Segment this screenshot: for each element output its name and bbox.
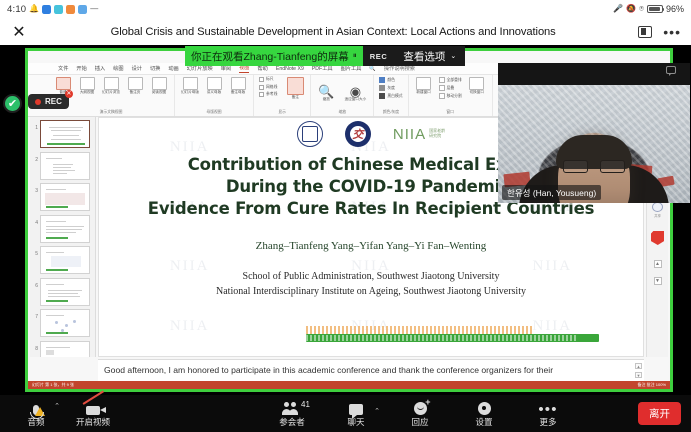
thumbnail-row[interactable]: 5 xyxy=(32,246,93,274)
scroll-up-button[interactable]: ▲ xyxy=(654,260,662,268)
ribbon-label: 备注母版 xyxy=(231,91,245,95)
chevron-up-icon[interactable]: ⌃ xyxy=(54,402,60,410)
more-dots-icon: ••• xyxy=(538,400,557,415)
participant-name-label: 한유성 (Han, Yousueng) xyxy=(502,185,601,200)
reactions-icon xyxy=(414,400,427,415)
slide-master-icon xyxy=(183,77,198,90)
view-layout-icon[interactable] xyxy=(638,26,652,38)
affiliation-line-2: National Interdisciplinary Institute on … xyxy=(99,285,643,300)
ribbon-group-master-views: 幻灯片母版 讲义母版 备注母版 母版视图 xyxy=(175,75,254,116)
thumbnail-row[interactable]: 7 xyxy=(32,309,93,337)
slide-authors: Zhang–Tianfeng Yang–Yifan Yang–Yi Fan–We… xyxy=(99,240,643,252)
watermark-text: NIIA xyxy=(532,318,572,335)
ribbon-label: 黑白模式 xyxy=(387,94,402,99)
participant-count: 41 xyxy=(301,400,310,409)
search-icon[interactable]: 🔍 xyxy=(369,66,375,72)
rail-button-share[interactable]: 共享 xyxy=(652,202,663,218)
ppt-tab-help[interactable]: 帮助 xyxy=(257,65,267,72)
ppt-tab-review[interactable]: 审阅 xyxy=(221,65,231,72)
ribbon-label: 移动分割 xyxy=(447,94,462,99)
shared-screen-area: 文件 开始 插入 绘图 设计 切换 动画 幻灯片放映 审阅 视图 帮助 EndN… xyxy=(0,45,691,395)
color-icon xyxy=(379,77,385,83)
zoom-bottom-toolbar: 音频 ⌃ 开启视频 41 参会者 聊天 ⌃ xyxy=(0,395,691,432)
ribbon-label: 备注页 xyxy=(130,91,141,95)
ribbon-label: 标尺 xyxy=(266,77,274,82)
ribbon-label: 讲义母版 xyxy=(207,91,221,95)
ribbon-button-notes[interactable]: 备注 xyxy=(285,77,305,100)
ribbon-button-handout-master[interactable]: 讲义母版 xyxy=(204,77,224,95)
title-bar-actions: ••• xyxy=(638,26,681,38)
reading-view-icon xyxy=(152,77,167,90)
ppt-tab-pdftools[interactable]: PDF工具 xyxy=(312,65,333,72)
notes-icon xyxy=(287,77,304,95)
ribbon-checkbox-ruler[interactable]: 标尺 xyxy=(259,77,277,82)
slide-thumbnail-pane[interactable]: 1 2 xyxy=(30,117,96,357)
ribbon-button-slide-master[interactable]: 幻灯片母版 xyxy=(180,77,200,95)
niia-sub-line2: 研究院 xyxy=(429,134,445,139)
thumbnail-number: 8 xyxy=(32,341,38,352)
ribbon-label: 备注 xyxy=(292,96,299,100)
thumbnail-number: 1 xyxy=(32,120,38,131)
ppt-tab-picturetools[interactable]: 图片工具 xyxy=(341,65,362,72)
recording-indicator: REC xyxy=(363,46,395,66)
ribbon-button-new-window[interactable]: 新建窗口 xyxy=(414,77,434,95)
ribbon-checkbox-gridlines[interactable]: 网格线 xyxy=(259,85,277,90)
ribbon-group-title: 母版视图 xyxy=(206,110,221,115)
checkbox-icon xyxy=(259,92,264,97)
microphone-icon xyxy=(33,400,39,415)
ribbon-button-slide-sorter[interactable]: 幻灯片浏览 xyxy=(101,77,121,95)
app-orange-icon xyxy=(66,5,75,14)
app-cyan-icon xyxy=(54,5,63,14)
recording-badge-label: REC xyxy=(45,97,62,106)
warning-icon xyxy=(35,407,45,416)
app-lightblue-icon xyxy=(78,5,87,14)
jiaotong-seal-icon: 交 xyxy=(345,121,371,147)
close-icon[interactable]: ✕ xyxy=(65,90,73,98)
thumbnail-row[interactable]: 6 xyxy=(32,278,93,306)
niia-text: NIIA xyxy=(393,126,426,143)
slide-thumbnail[interactable] xyxy=(40,120,90,148)
ribbon-button-move-split[interactable]: 移动分割 xyxy=(439,93,462,99)
ribbon-group-show: 标尺 网格线 参考线 xyxy=(254,75,311,116)
slide-decor-dots-overlay xyxy=(306,335,578,341)
close-icon[interactable]: ✕ xyxy=(10,23,28,41)
slide-thumbnail[interactable] xyxy=(40,341,90,358)
ribbon-group-title: 演示文稿视图 xyxy=(100,110,123,115)
microphone-icon: 🎤 xyxy=(613,5,623,13)
ribbon-button-fit-window[interactable]: ◉ 适应窗口大小 xyxy=(342,85,368,102)
bottom-toolbar-center: 41 参会者 聊天 ⌃ 回应 设置 ••• 更多 xyxy=(266,400,574,428)
thumbnail-number: 3 xyxy=(32,183,38,194)
participant-video-tile[interactable]: 한유성 (Han, Yousueng) xyxy=(498,63,690,203)
thumbnail-number: 2 xyxy=(32,152,38,163)
slide-thumbnail[interactable] xyxy=(40,215,90,243)
ppt-tab-insert[interactable]: 插入 xyxy=(95,65,105,72)
ribbon-label: 缩放 xyxy=(323,98,330,102)
ribbon-group-title: 窗口 xyxy=(446,110,454,115)
notes-scroll-up[interactable]: ▲ xyxy=(635,363,642,369)
start-video-button[interactable]: 开启视频 xyxy=(62,395,124,432)
view-options-button[interactable]: 查看选项 ⌄ xyxy=(394,46,465,66)
ribbon-label: 层叠 xyxy=(447,86,455,91)
slide-sorter-icon xyxy=(104,77,119,90)
ribbon-label: 幻灯片母版 xyxy=(181,91,199,95)
ribbon-group-title: 显示 xyxy=(278,110,286,115)
battery-icon xyxy=(647,5,663,13)
grayscale-icon xyxy=(379,85,385,91)
ppt-tab-animations[interactable]: 动画 xyxy=(168,65,178,72)
ribbon-button-color[interactable]: 颜色 xyxy=(379,77,402,83)
cascade-icon xyxy=(439,85,445,91)
move-split-icon xyxy=(439,93,445,99)
ribbon-group-zoom: 🔍 缩放 ◉ 适应窗口大小 缩放 xyxy=(311,75,374,116)
ribbon-button-cascade[interactable]: 层叠 xyxy=(439,85,462,91)
thumbnail-row[interactable]: 4 xyxy=(32,215,93,243)
start-video-label: 开启视频 xyxy=(76,416,110,428)
viewing-indicator: 你正在观看Zhang-Tianfeng的屏幕 ⏸ xyxy=(185,46,363,66)
ribbon-label: 大纲视图 xyxy=(80,91,94,95)
seal-glyph: 交 xyxy=(352,126,363,142)
more-options-icon[interactable]: ••• xyxy=(663,28,681,36)
ppt-tab-endnote[interactable]: EndNote X9 xyxy=(276,66,304,72)
ribbon-label: 适应窗口大小 xyxy=(345,98,367,102)
ppt-tab-slideshow[interactable]: 幻灯片放映 xyxy=(187,65,213,72)
status-bar-right: 🎤 🔕 ⍟ 96% xyxy=(613,4,684,14)
leave-button[interactable]: 离开 xyxy=(638,402,681,425)
watermark-text: NIIA xyxy=(170,318,210,335)
handout-master-icon xyxy=(207,77,222,90)
ribbon-button-zoom[interactable]: 🔍 缩放 xyxy=(316,85,336,102)
security-shield-icon[interactable]: ✔ xyxy=(3,94,22,113)
notes-scrollbar[interactable]: ▲ ▼ xyxy=(635,363,642,378)
meeting-title: Global Crisis and Sustainable Developmen… xyxy=(28,26,638,38)
device-status-bar: 4:10 🔔 — 🎤 🔕 ⍟ 96% xyxy=(0,0,691,18)
ppt-notes-pane[interactable]: Good afternoon, I am honored to particip… xyxy=(98,359,644,381)
ribbon-button-reading-view[interactable]: 阅读视图 xyxy=(149,77,169,95)
slide-thumbnail[interactable] xyxy=(40,309,90,337)
rail-label: 共享 xyxy=(654,213,661,218)
record-dot-icon xyxy=(35,99,41,105)
ribbon-group-window: 新建窗口 全部重排 层叠 xyxy=(409,75,493,116)
ribbon-label: 新建窗口 xyxy=(416,91,430,95)
scroll-down-button[interactable]: ▼ xyxy=(654,277,662,285)
screen-share-banner: 你正在观看Zhang-Tianfeng的屏幕 ⏸ REC 查看选项 ⌄ xyxy=(185,46,515,66)
switch-windows-icon xyxy=(469,77,484,90)
participants-icon: 41 xyxy=(282,400,302,415)
ppt-tab-home[interactable]: 开始 xyxy=(76,65,86,72)
reactions-button[interactable]: 回应 xyxy=(394,400,446,428)
annotation-pen-icon[interactable] xyxy=(651,231,664,245)
recording-badge[interactable]: REC ✕ xyxy=(28,94,69,109)
university-seal-icon xyxy=(297,121,323,147)
chat-bubble-icon xyxy=(666,66,676,74)
notes-master-icon xyxy=(231,77,246,90)
app-blue-icon xyxy=(42,5,51,14)
checkbox-icon xyxy=(259,77,264,82)
view-options-label: 查看选项 xyxy=(403,49,445,64)
participants-label: 参会者 xyxy=(279,416,305,428)
ellipsis-icon: — xyxy=(90,5,98,13)
ribbon-label: 网格线 xyxy=(266,85,277,90)
outline-view-icon xyxy=(80,77,95,90)
thumbnail-row[interactable]: 1 xyxy=(32,120,93,148)
ribbon-button-blackwhite[interactable]: 黑白模式 xyxy=(379,93,402,99)
ribbon-label: 参考线 xyxy=(266,92,277,97)
chat-button[interactable]: 聊天 ⌃ xyxy=(330,400,382,428)
ribbon-group-title: 缩放 xyxy=(339,110,347,115)
arrange-all-icon xyxy=(439,77,445,83)
slide-thumbnail[interactable] xyxy=(40,278,90,306)
audio-button[interactable]: 音频 ⌃ xyxy=(10,395,62,432)
thumbnail-row[interactable]: 8 xyxy=(32,341,93,358)
slide-thumbnail[interactable] xyxy=(40,183,90,211)
ribbon-label: 切换窗口 xyxy=(470,91,484,95)
ppt-tab-transitions[interactable]: 切换 xyxy=(150,65,160,72)
ribbon-checkbox-guides[interactable]: 参考线 xyxy=(259,92,277,97)
ribbon-label: 灰度 xyxy=(387,86,395,91)
checkbox-icon xyxy=(259,85,264,90)
battery-percent: 96% xyxy=(666,4,684,14)
notes-scroll-down[interactable]: ▼ xyxy=(635,372,642,378)
chevron-up-icon[interactable]: ⌃ xyxy=(374,407,380,415)
notes-text: Good afternoon, I am honored to particip… xyxy=(104,365,553,375)
slide-thumbnail[interactable] xyxy=(40,152,90,180)
settings-label: 设置 xyxy=(475,416,492,428)
ribbon-button-switch-windows[interactable]: 切换窗口 xyxy=(467,77,487,95)
ribbon-label: 阅读视图 xyxy=(152,91,166,95)
notes-page-icon xyxy=(128,77,143,90)
clock-time: 4:10 xyxy=(7,4,26,15)
thumbnail-number: 5 xyxy=(32,246,38,257)
slide-decor-dots xyxy=(306,326,534,334)
zoom-meeting-screen: 4:10 🔔 — 🎤 🔕 ⍟ 96% ✕ Global Crisis and S… xyxy=(0,0,691,432)
ribbon-button-outline[interactable]: 大纲视图 xyxy=(77,77,97,95)
camera-off-icon xyxy=(86,400,100,415)
thumbnail-number: 6 xyxy=(32,278,38,289)
pause-icon[interactable]: ⏸ xyxy=(353,51,357,61)
slide-thumbnail[interactable] xyxy=(40,246,90,274)
thumbnail-number: 4 xyxy=(32,215,38,226)
ppt-tab-draw[interactable]: 绘图 xyxy=(113,65,123,72)
thumbnail-row[interactable]: 3 xyxy=(32,183,93,211)
ribbon-button-notes-master[interactable]: 备注母版 xyxy=(228,77,248,95)
reactions-label: 回应 xyxy=(411,416,428,428)
slide-affiliation: School of Public Administration, Southwe… xyxy=(99,270,643,299)
settings-button[interactable]: 设置 xyxy=(458,400,510,428)
thumbnail-row[interactable]: 2 xyxy=(32,152,93,180)
ribbon-button-grayscale[interactable]: 灰度 xyxy=(379,85,402,91)
share-icon xyxy=(652,202,663,212)
gear-icon xyxy=(478,400,491,415)
ribbon-group-title: 颜色/灰度 xyxy=(383,110,399,115)
ribbon-button-notes-page[interactable]: 备注页 xyxy=(125,77,145,95)
ribbon-label: 幻灯片浏览 xyxy=(102,91,120,95)
thumbnail-number: 7 xyxy=(32,309,38,320)
ppt-tab-file[interactable]: 文件 xyxy=(58,65,68,72)
chat-icon xyxy=(349,400,363,415)
chevron-down-icon: ⌄ xyxy=(450,52,456,60)
ppt-status-left: 幻灯片 第 1 张，共 9 张 xyxy=(32,382,74,388)
status-bar-left: 4:10 🔔 — xyxy=(7,4,98,15)
ribbon-label: 颜色 xyxy=(387,78,395,83)
wifi-icon: ⍟ xyxy=(639,5,644,13)
niia-logo: NIIA 国家老龄 研究院 xyxy=(393,126,445,143)
affiliation-line-1: School of Public Administration, Southwe… xyxy=(99,270,643,285)
ribbon-button-arrange-all[interactable]: 全部重排 xyxy=(439,77,462,83)
ppt-tab-design[interactable]: 设计 xyxy=(132,65,142,72)
more-button[interactable]: ••• 更多 xyxy=(522,400,574,428)
ribbon-group-color: 颜色 灰度 黑白模式 颜色/灰度 xyxy=(374,75,408,116)
bell-off-icon: 🔕 xyxy=(626,5,636,13)
ppt-status-bar: 幻灯片 第 1 张，共 9 张 备注 批注 100% xyxy=(28,381,670,389)
ribbon-label: 全部重排 xyxy=(447,78,462,83)
tell-me-label[interactable]: 操作说明搜索 xyxy=(384,65,415,72)
person-glasses xyxy=(563,159,625,173)
participants-button[interactable]: 41 参会者 xyxy=(266,400,318,428)
black-white-icon xyxy=(379,93,385,99)
video-tile-topbar xyxy=(498,63,690,85)
viewing-text: 你正在观看Zhang-Tianfeng的屏幕 xyxy=(191,49,349,64)
normal-view-icon xyxy=(56,77,71,90)
bell-icon: 🔔 xyxy=(29,5,39,13)
meeting-title-bar: ✕ Global Crisis and Sustainable Developm… xyxy=(0,18,691,45)
ppt-status-right: 备注 批注 100% xyxy=(638,382,666,388)
new-window-icon xyxy=(416,77,431,90)
